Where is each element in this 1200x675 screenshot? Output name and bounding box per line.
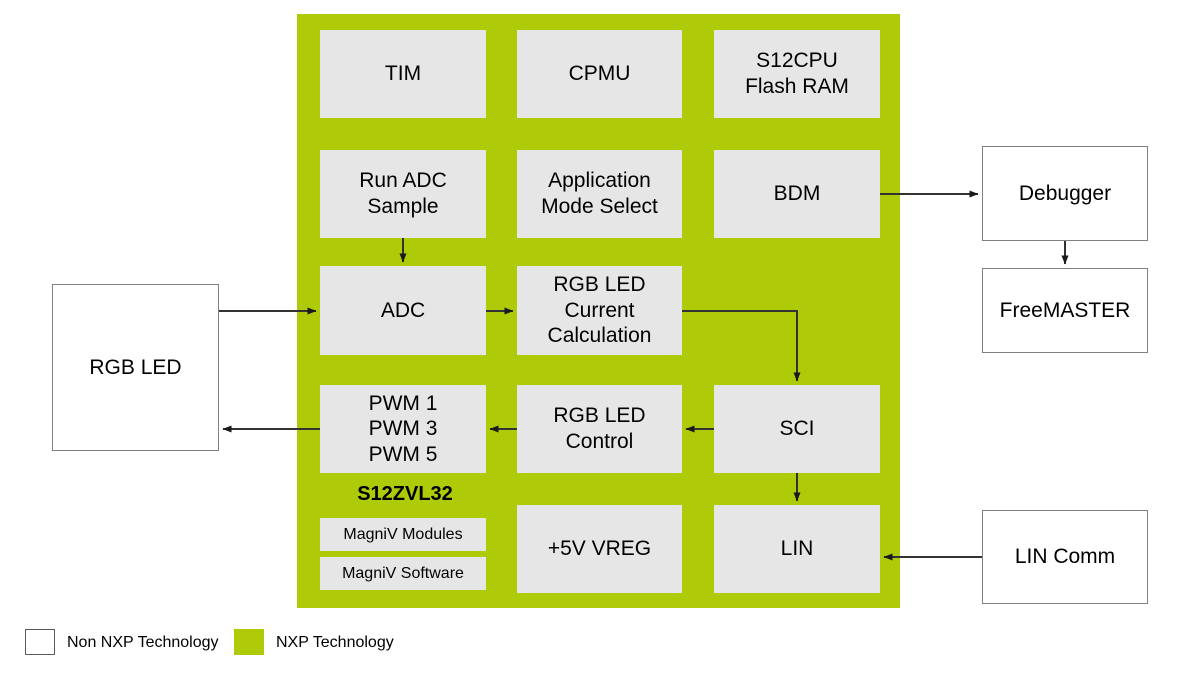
block-run-adc-sample[interactable]: Run ADC Sample: [320, 150, 486, 238]
block-cpmu[interactable]: CPMU: [517, 30, 682, 118]
block-lin[interactable]: LIN: [714, 505, 880, 593]
mcu-name-label: S12ZVL32: [320, 483, 490, 506]
block-bdm[interactable]: BDM: [714, 150, 880, 238]
block-tim[interactable]: TIM: [320, 30, 486, 118]
legend-label-nxp: NXP Technology: [276, 634, 394, 652]
block-5v-vreg[interactable]: +5V VREG: [517, 505, 682, 593]
block-s12cpu-flash-ram[interactable]: S12CPU Flash RAM: [714, 30, 880, 118]
external-box-freemaster[interactable]: FreeMASTER: [982, 268, 1148, 353]
block-adc[interactable]: ADC: [320, 266, 486, 355]
sub-block-magniv-software[interactable]: MagniV Software: [320, 557, 486, 590]
block-rgb-led-control[interactable]: RGB LED Control: [517, 385, 682, 473]
external-box-rgb-led[interactable]: RGB LED: [52, 284, 219, 451]
sub-block-magniv-modules[interactable]: MagniV Modules: [320, 518, 486, 551]
legend-swatch-non-nxp: [25, 629, 55, 655]
external-box-lin-comm[interactable]: LIN Comm: [982, 510, 1148, 604]
legend-label-non-nxp: Non NXP Technology: [67, 634, 219, 652]
block-pwm[interactable]: PWM 1 PWM 3 PWM 5: [320, 385, 486, 473]
external-box-debugger[interactable]: Debugger: [982, 146, 1148, 241]
block-rgb-led-current-calculation[interactable]: RGB LED Current Calculation: [517, 266, 682, 355]
block-sci[interactable]: SCI: [714, 385, 880, 473]
block-application-mode-select[interactable]: Application Mode Select: [517, 150, 682, 238]
legend-swatch-nxp: [234, 629, 264, 655]
diagram-canvas: TIM CPMU S12CPU Flash RAM Run ADC Sample…: [0, 0, 1200, 675]
